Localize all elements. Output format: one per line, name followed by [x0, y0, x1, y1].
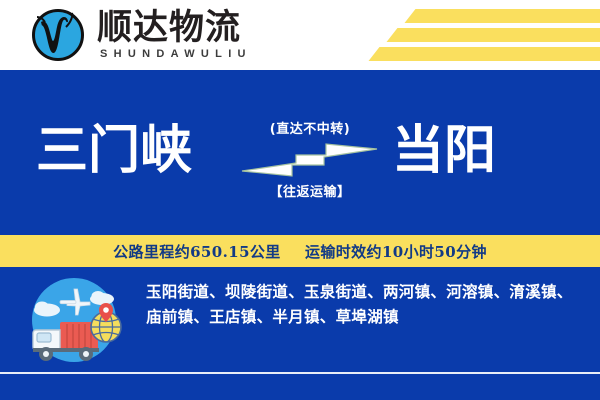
coverage-band: 玉阳街道、坝陵街道、玉泉街道、两河镇、河溶镇、淯溪镇、庙前镇、王店镇、半月镇、草… — [0, 267, 600, 372]
logistics-route-poster: 顺达物流 SHUNDAWULIU 三门峡 (直达不中转) 【往返运输】 当阳 — [0, 0, 600, 400]
coverage-areas-text: 玉阳街道、坝陵街道、玉泉街道、两河镇、河溶镇、淯溪镇、庙前镇、王店镇、半月镇、草… — [146, 279, 586, 329]
swoosh-circle-logo-icon — [28, 5, 88, 65]
route-info-band: 公路里程约650.15公里 运输时效约10小时50分钟 — [0, 235, 600, 267]
brand-name-en: SHUNDAWULIU — [100, 47, 252, 61]
route-note-roundtrip: 【往返运输】 — [240, 181, 380, 200]
origin-city: 三门峡 — [36, 120, 192, 182]
stripe-3 — [369, 47, 600, 61]
route-band: 三门峡 (直达不中转) 【往返运输】 当阳 — [0, 70, 600, 235]
poster-footer — [0, 374, 600, 400]
double-headed-arrow-icon — [240, 143, 380, 177]
route-info-text: 公路里程约650.15公里 运输时效约10小时50分钟 — [113, 241, 487, 262]
duration-text: 运输时效约10小时50分钟 — [305, 243, 487, 261]
poster-header: 顺达物流 SHUNDAWULIU — [0, 0, 600, 70]
destination-city: 当阳 — [392, 120, 496, 182]
stripe-1 — [405, 9, 600, 23]
route-middle: (直达不中转) 【往返运输】 — [240, 118, 380, 200]
brand-name-cn: 顺达物流 — [97, 9, 252, 47]
stripe-2 — [387, 28, 600, 42]
route-note-direct: (直达不中转) — [240, 118, 380, 137]
distance-text: 公路里程约650.15公里 — [113, 243, 281, 261]
yellow-speed-stripes-icon — [330, 0, 600, 70]
brand-logo[interactable]: 顺达物流 SHUNDAWULIU — [28, 5, 252, 65]
logistics-truck-plane-globe-icon — [14, 275, 134, 365]
